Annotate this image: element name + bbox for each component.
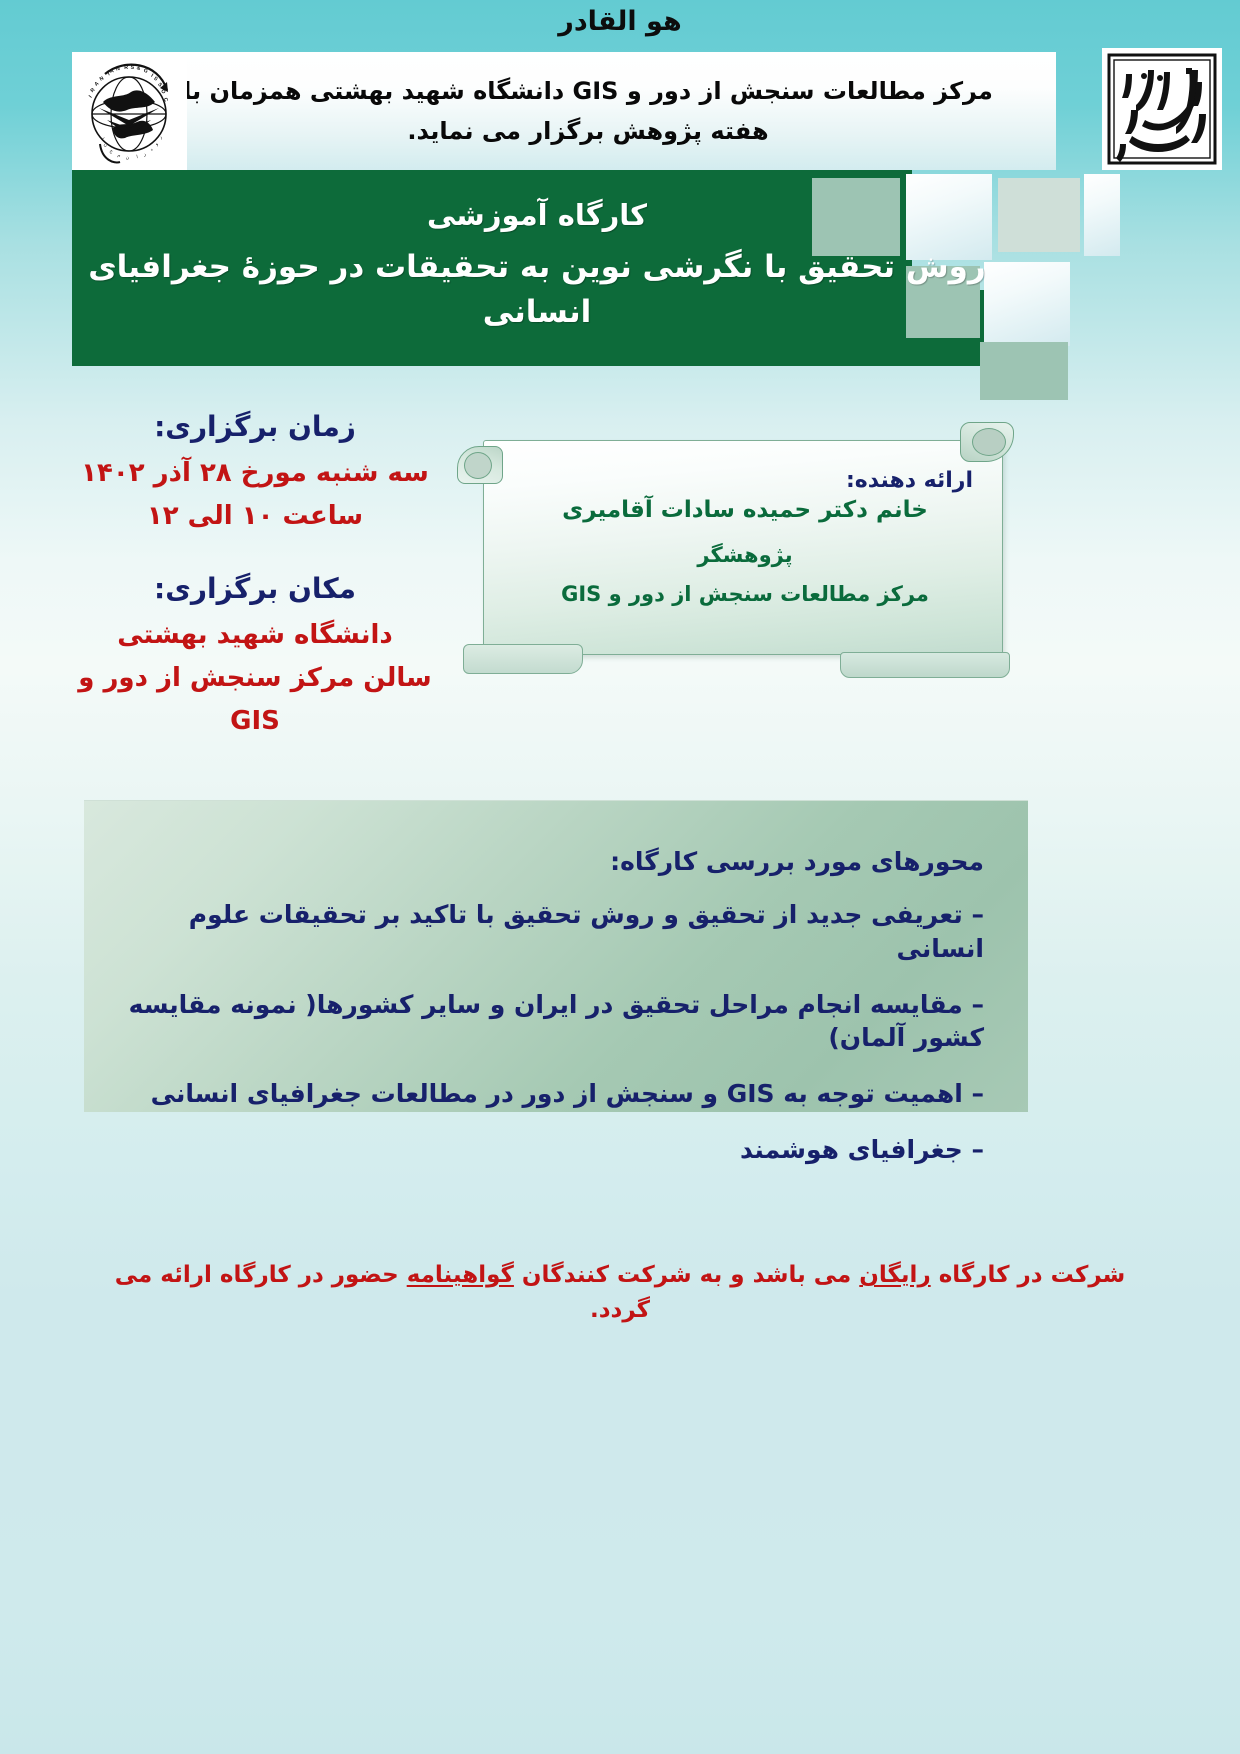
event-hours: ساعت ۱۰ الی ۱۲ <box>60 495 450 538</box>
shahid-beheshti-university-logo <box>1102 48 1222 170</box>
topic-item: – جغرافیای هوشمند <box>128 1133 984 1167</box>
topic-item: – اهمیت توجه به GIS و سنجش از دور در مطا… <box>128 1077 984 1111</box>
workshop-title-banner: کارگاه آموزشی روش تحقیق با نگرشی نوین به… <box>72 170 1120 366</box>
banner-main-title: روش تحقیق با نگرشی نوین به تحقیقات در حو… <box>87 245 987 335</box>
event-place-line-2: سالن مرکز سنجش از دور و GIS <box>60 657 450 743</box>
footer-part-1: شرکت در کارگاه <box>931 1262 1126 1288</box>
decor-square-3 <box>998 178 1080 252</box>
presenter-name: خانم دکتر حمیده سادات آقامیری <box>495 493 995 528</box>
scroll-tail-bottom-right-icon <box>840 652 1010 678</box>
details-spacer <box>60 538 450 566</box>
topic-item: – تعریفی جدید از تحقیق و روش تحقیق با تا… <box>128 898 984 966</box>
footer-free-underlined: رایگان <box>859 1262 930 1288</box>
iranian-rs-gis-society-logo: I R A N I A N R S & G I S S O C ا ن ج <box>72 52 187 170</box>
basmala-text: هو القادر <box>0 6 1240 37</box>
footer-note: شرکت در کارگاه رایگان می باشد و به شرکت … <box>0 1258 1240 1327</box>
header-line-2: هفته پژوهش برگزار می نماید. <box>407 116 768 146</box>
presenter-organization: مرکز مطالعات سنجش از دور و GIS <box>495 579 995 611</box>
scroll-curl-top-right-icon <box>960 422 1014 462</box>
event-details: زمان برگزاری: سه شنبه مورخ ۲۸ آذر ۱۴۰۲ س… <box>60 404 450 743</box>
poster-root: هو القادر مرکز مطالعات سنجش از دور و GIS… <box>0 0 1240 1754</box>
decor-square-7 <box>1084 174 1120 256</box>
event-place-line-1: دانشگاه شهید بهشتی <box>60 614 450 657</box>
banner-kicker: کارگاه آموزشی <box>427 198 647 232</box>
workshop-topics-box: محورهای مورد بررسی کارگاه: – تعریفی جدید… <box>84 800 1028 1112</box>
banner-title-text: کارگاه آموزشی روش تحقیق با نگرشی نوین به… <box>72 170 1002 366</box>
header-organizer-text: مرکز مطالعات سنجش از دور و GIS دانشگاه ش… <box>126 52 1050 170</box>
topic-item: – مقایسه انجام مراحل تحقیق در ایران و سا… <box>128 988 984 1056</box>
scroll-tail-bottom-left-icon <box>463 644 583 674</box>
presenter-role: پژوهشگر <box>495 540 995 572</box>
header-line-1: مرکز مطالعات سنجش از دور و GIS دانشگاه ش… <box>183 76 993 106</box>
place-label: مکان برگزاری: <box>60 566 450 612</box>
presenter-scroll: ارائه دهنده: خانم دکتر حمیده سادات آقامی… <box>455 418 1020 678</box>
time-label: زمان برگزاری: <box>60 404 450 450</box>
footer-certificate-underlined: گواهینامه <box>407 1262 514 1288</box>
event-date: سه شنبه مورخ ۲۸ آذر ۱۴۰۲ <box>60 452 450 495</box>
topics-heading: محورهای مورد بررسی کارگاه: <box>128 847 984 876</box>
footer-part-2: می باشد و به شرکت کنندگان <box>514 1262 859 1288</box>
presenter-info: ارائه دهنده: خانم دکتر حمیده سادات آقامی… <box>495 464 995 611</box>
svg-text:R: R <box>124 65 128 71</box>
